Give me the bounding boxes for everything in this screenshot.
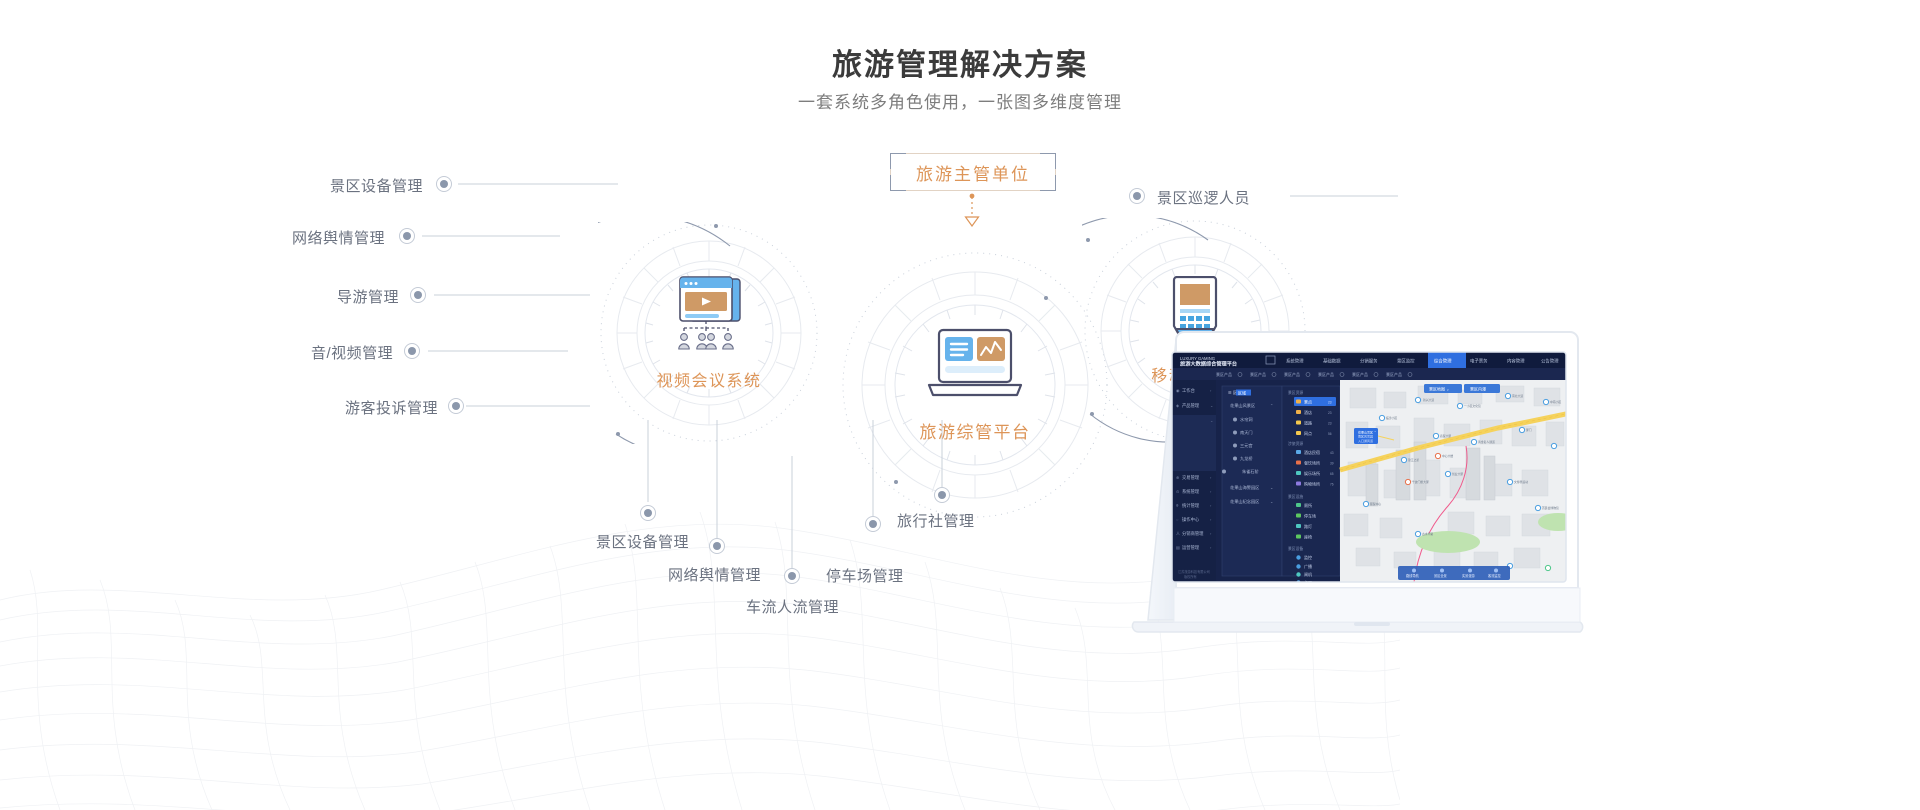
svg-text:餐饮场所: 餐饮场所 <box>1304 460 1320 466</box>
svg-text:统计管理: 统计管理 <box>1182 502 1200 509</box>
left-node-label-1: 网络舆情管理 <box>292 227 385 248</box>
svg-text:23: 23 <box>1328 411 1332 415</box>
svg-text:座椅: 座椅 <box>1304 534 1312 540</box>
svg-text:区域: 区域 <box>1238 389 1246 395</box>
left-node-dot-2[interactable] <box>410 287 426 303</box>
svg-text:65: 65 <box>1330 472 1334 476</box>
svg-text:景区产品: 景区产品 <box>1216 371 1232 377</box>
svg-text:旅游大数据综合管理平台: 旅游大数据综合管理平台 <box>1179 360 1237 368</box>
svg-text:酒店民宿: 酒店民宿 <box>1304 449 1320 455</box>
svg-text:景区内漫: 景区内漫 <box>1470 386 1486 392</box>
svg-text:景区产品: 景区产品 <box>1318 371 1334 377</box>
svg-text:运营管理: 运营管理 <box>1182 544 1200 551</box>
svg-text:广播: 广播 <box>1304 563 1312 569</box>
svg-text:创业大厦: 创业大厦 <box>1452 472 1463 476</box>
svg-text:花果山风景区: 花果山风景区 <box>1230 402 1255 409</box>
left-node-label-0: 景区设备管理 <box>330 175 423 196</box>
svg-text:九龙桥: 九龙桥 <box>1240 455 1253 462</box>
page-title: 旅游管理解决方案 <box>0 40 1920 84</box>
svg-text:闸机: 闸机 <box>1304 571 1312 577</box>
svg-text:中心大楼: 中心大楼 <box>1442 454 1453 458</box>
svg-text:景区全景: 景区全景 <box>1434 573 1447 578</box>
svg-text:江苏旅游科技有限公司: 江苏旅游科技有限公司 <box>1178 569 1210 574</box>
bottom-node-dot-3[interactable] <box>865 516 881 532</box>
svg-text:网点: 网点 <box>1304 430 1312 436</box>
svg-text:56: 56 <box>1328 432 1332 436</box>
tourism-platform-icon-area: 旅游综管平台 <box>840 250 1110 520</box>
svg-text:临汾小区: 临汾小区 <box>1386 416 1397 420</box>
authority-edge-bottom <box>902 190 1044 191</box>
svg-text:43: 43 <box>1330 451 1334 455</box>
svg-text:购物场所: 购物场所 <box>1304 481 1320 487</box>
left-node-label-3: 音/视频管理 <box>311 342 393 363</box>
svg-text:朱雀石阶: 朱雀石阶 <box>1242 468 1260 475</box>
left-node-dot-3[interactable] <box>404 343 420 359</box>
svg-text:系统管理: 系统管理 <box>1182 488 1200 495</box>
svg-text:23: 23 <box>1328 422 1332 426</box>
page-subtitle: 一套系统多角色使用，一张图多维度管理 <box>0 88 1920 113</box>
svg-text:文博界运动: 文博界运动 <box>1514 480 1528 484</box>
svg-text:商贸大厦: 商贸大厦 <box>1440 434 1451 438</box>
left-node-dot-4[interactable] <box>448 398 464 414</box>
svg-text:监控: 监控 <box>1304 554 1312 560</box>
cluster-tourism-platform[interactable]: 旅游综管平台 <box>840 250 1110 520</box>
svg-text:操作中心: 操作中心 <box>1182 516 1200 523</box>
svg-text:系统管理: 系统管理 <box>1286 358 1304 365</box>
authority-label: 旅游主管单位 <box>916 160 1030 185</box>
svg-text:内容管理: 内容管理 <box>1507 358 1525 365</box>
corner-bracket-top-right <box>1040 153 1056 169</box>
svg-text:服贸中心: 服贸中心 <box>1370 502 1381 506</box>
authority-to-platform-arrow <box>960 193 1020 227</box>
left-node-label-4: 游客投诉管理 <box>345 397 438 418</box>
svg-text:景区产品: 景区产品 <box>1352 371 1368 377</box>
bottom-node-dot-1[interactable] <box>709 538 725 554</box>
svg-text:▤: ▤ <box>1176 545 1180 550</box>
svg-text:花果山海警园区: 花果山海警园区 <box>1230 484 1259 491</box>
svg-text:⌄: ⌄ <box>1270 499 1273 504</box>
svg-text:景区地图 ⌄: 景区地图 ⌄ <box>1429 386 1449 392</box>
bottom-node-dot-2[interactable] <box>784 568 800 584</box>
svg-text:电子票务: 电子票务 <box>1470 358 1488 365</box>
svg-text:⌃: ⌃ <box>1270 403 1273 408</box>
svg-text:中南小区: 中南小区 <box>1550 400 1561 404</box>
svg-text:锦江之星: 锦江之星 <box>1408 458 1419 462</box>
svg-text:景区设施: 景区设施 <box>1288 494 1303 499</box>
right-node-label-0: 景区巡逻人员 <box>1157 187 1250 208</box>
corner-bracket-top-left <box>890 153 906 169</box>
svg-text:黄金名人通道: 黄金名人通道 <box>1478 440 1495 444</box>
bottom-node-label-2: 车流人流管理 <box>746 596 839 617</box>
laptop-frame: LUXURY GAMING 旅游大数据综合管理平台 系统管理基础数据 分销服务景… <box>1118 330 1588 640</box>
bottom-node-dot-0[interactable] <box>640 505 656 521</box>
laptop-mockup: LUXURY GAMING 旅游大数据综合管理平台 系统管理基础数据 分销服务景… <box>1118 330 1588 640</box>
svg-text:景区产品: 景区产品 <box>1386 371 1402 377</box>
svg-text:路灯: 路灯 <box>1304 523 1312 529</box>
bottom-node-dot-4[interactable] <box>934 487 950 503</box>
svg-text:综合管理: 综合管理 <box>1434 358 1452 365</box>
svg-text:三元宫: 三元宫 <box>1240 442 1253 449</box>
svg-text:厕所: 厕所 <box>1304 502 1312 508</box>
svg-text:景区产品: 景区产品 <box>1284 371 1300 377</box>
left-node-dot-1[interactable] <box>399 228 415 244</box>
left-node-label-2: 导游管理 <box>337 286 399 307</box>
svg-text:39: 39 <box>1330 462 1334 466</box>
svg-text:分销服务: 分销服务 <box>1360 358 1378 365</box>
svg-text:工作台: 工作台 <box>1182 387 1195 394</box>
svg-text:娱乐场所: 娱乐场所 <box>1304 470 1320 476</box>
video-conference-icon <box>666 275 752 353</box>
authority-box[interactable]: 旅游主管单位 <box>890 153 1056 191</box>
svg-text:版权所有: 版权所有 <box>1184 574 1197 579</box>
authority-edge-top <box>902 153 1044 154</box>
bottom-node-label-0: 景区设备管理 <box>596 531 689 552</box>
svg-text:首民会博物馆: 首民会博物馆 <box>1542 506 1559 510</box>
svg-text:LUXURY GAMING: LUXURY GAMING <box>1180 356 1215 361</box>
left-node-dot-0[interactable] <box>436 176 452 192</box>
svg-text:公告管理: 公告管理 <box>1541 358 1559 365</box>
video-conference-icon-area: 视频会议系统 <box>598 222 820 444</box>
svg-text:入口通风道: 入口通风道 <box>1358 438 1373 443</box>
svg-text:⊙: ⊙ <box>1176 489 1179 494</box>
cluster-label-video-conference: 视频会议系统 <box>656 367 761 391</box>
svg-text:酒店: 酒店 <box>1304 409 1312 415</box>
svg-text:分销商管理: 分销商管理 <box>1182 530 1204 537</box>
svg-text:一小区文化馆: 一小区文化馆 <box>1464 404 1481 408</box>
bottom-node-label-4: 旅行社管理 <box>897 510 975 531</box>
laptop-dashboard-icon <box>923 328 1027 404</box>
svg-text:水帘洞: 水帘洞 <box>1240 416 1253 423</box>
bottom-node-label-1: 网络舆情管理 <box>668 564 761 585</box>
cluster-video-conference[interactable]: 视频会议系统 <box>598 222 820 444</box>
svg-text:南北大道: 南北大道 <box>1512 394 1523 398</box>
cluster-label-tourism-platform: 旅游综管平台 <box>920 418 1031 443</box>
svg-text:⌄: ⌄ <box>1210 403 1213 408</box>
svg-text:客流监控: 客流监控 <box>1488 573 1502 578</box>
svg-text:景区设备: 景区设备 <box>1288 546 1303 551</box>
svg-text:道路: 道路 <box>1304 420 1312 426</box>
bottom-node-label-3: 停车场管理 <box>826 565 904 586</box>
svg-text:古水华路: 古水华路 <box>1422 532 1433 536</box>
svg-text:千波门旅大厦: 千波门旅大厦 <box>1412 480 1429 484</box>
svg-text:景点: 景点 <box>1304 399 1312 405</box>
svg-text:景区产品: 景区产品 <box>1250 371 1266 377</box>
svg-text:23: 23 <box>1328 401 1332 405</box>
right-connector-lines <box>1290 180 1450 240</box>
svg-text:76: 76 <box>1330 483 1334 487</box>
svg-text:⌄: ⌄ <box>1270 485 1273 490</box>
svg-text:实景漫游: 实景漫游 <box>1462 573 1476 578</box>
svg-text:人: 人 <box>1176 531 1180 536</box>
svg-text:景区资源: 景区资源 <box>1288 390 1303 395</box>
svg-text:路线导航: 路线导航 <box>1406 573 1420 578</box>
svg-text:⌄: ⌄ <box>1210 418 1213 423</box>
svg-text:基础数据: 基础数据 <box>1323 358 1341 365</box>
svg-text:新兴大道: 新兴大道 <box>1423 398 1434 402</box>
right-node-dot-0[interactable] <box>1129 188 1145 204</box>
svg-text:厦门: 厦门 <box>1526 428 1532 432</box>
svg-text:南天门: 南天门 <box>1240 429 1253 436</box>
corner-bracket-bottom-left <box>890 175 906 191</box>
svg-text:景区监控: 景区监控 <box>1397 358 1415 365</box>
svg-text:涉旅资源: 涉旅资源 <box>1288 441 1303 446</box>
svg-text:产品管理: 产品管理 <box>1182 402 1200 409</box>
svg-text:花果山纪念园区: 花果山纪念园区 <box>1230 498 1259 505</box>
corner-bracket-bottom-right <box>1040 175 1056 191</box>
svg-text:停车场: 停车场 <box>1304 513 1316 519</box>
svg-text:◉: ◉ <box>1176 388 1180 393</box>
svg-text:交易管理: 交易管理 <box>1182 474 1200 481</box>
svg-text:⊕: ⊕ <box>1176 475 1179 480</box>
